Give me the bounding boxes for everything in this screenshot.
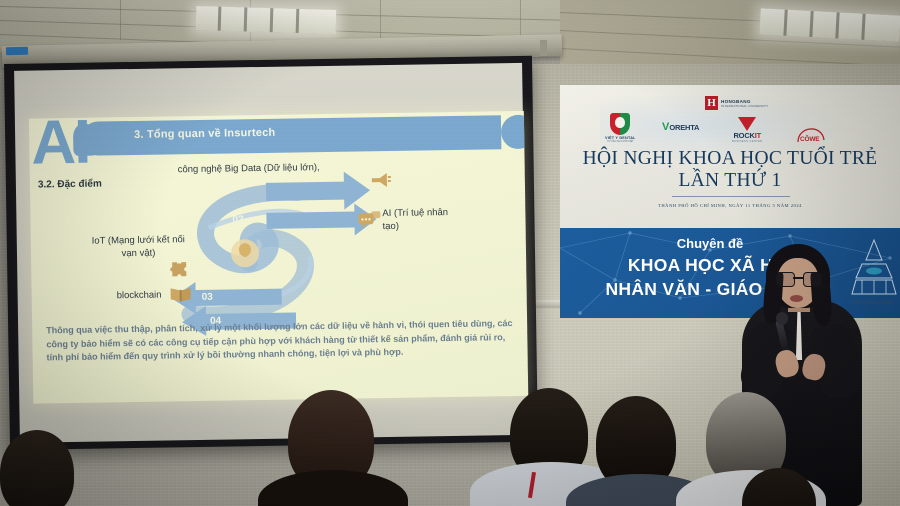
banner-heading-line1: HỘI NGHỊ KHOA HỌC TUỔI TRẺ	[560, 148, 900, 170]
slide-number-01: 01	[222, 183, 233, 194]
presentation-room-photo: AI 3. Tổng quan về Insurtech 3.2. Đặc đi…	[0, 0, 900, 506]
banner-divider	[672, 196, 790, 197]
rockit-mark	[738, 117, 756, 131]
spiral-svg	[148, 163, 401, 337]
housing-bracket	[540, 40, 547, 56]
slide-spiral-diagram	[148, 163, 401, 337]
viet-y-dental-tagline: TỰ HÀO NỤ CƯỜI VIỆT	[605, 140, 636, 143]
chat-bubble-icon	[358, 211, 380, 228]
ship-of-knowledge-icon	[848, 238, 900, 306]
ship-caption: Ship of Knowledge	[846, 300, 900, 306]
screen-surface: AI 3. Tổng quan về Insurtech 3.2. Đặc đi…	[14, 63, 528, 443]
rockit-name: ROCK	[733, 131, 754, 140]
slide-title: 3. Tổng quan về Insurtech	[134, 127, 275, 141]
presentation-slide: AI 3. Tổng quan về Insurtech 3.2. Đặc đi…	[29, 111, 528, 404]
book-icon	[170, 286, 192, 302]
rockit-logo: ROCKIT BUSINESS CENTER	[732, 117, 763, 143]
megaphone-icon	[370, 171, 392, 189]
slide-number-02: 02	[232, 214, 243, 225]
hongbang-logo: H HONGBANG INTERNATIONAL UNIVERSITY	[705, 96, 768, 110]
microphone-head	[776, 312, 788, 325]
cowe-logo: CÔWE	[796, 122, 826, 143]
puzzle-icon	[169, 259, 189, 279]
banner-date-line: THÀNH PHỐ HỒ CHÍ MINH, NGÀY 11 THÁNG 5 N…	[560, 203, 900, 208]
viet-y-dental-logo: VIỆT Y DENTAL TỰ HÀO NỤ CƯỜI VIỆT	[605, 113, 636, 143]
hongbang-mark: H	[705, 96, 718, 110]
speaker-glasses-icon	[776, 272, 820, 285]
housing-label-sticker	[6, 47, 28, 55]
orehta-mark: V	[662, 122, 669, 133]
slide-number-03: 03	[202, 292, 213, 303]
viet-y-dental-mark	[610, 113, 630, 135]
sponsor-logo-row: H HONGBANG INTERNATIONAL UNIVERSITY VIỆT…	[600, 96, 870, 144]
ceiling-light-left	[196, 6, 337, 34]
orehta-name: OREHTA	[669, 123, 699, 132]
audience-head-5	[0, 430, 74, 506]
projector-screen: AI 3. Tổng quan về Insurtech 3.2. Đặc đi…	[4, 56, 538, 450]
rockit-subtitle: BUSINESS CENTER	[732, 140, 763, 143]
banner-heading-line2: LẦN THỨ 1	[560, 170, 900, 192]
slide-paragraph: Thông qua việc thu thập, phân tích, xử l…	[46, 317, 515, 365]
speaker-mouth	[790, 295, 803, 302]
slide-section-label: 3.2. Đặc điểm	[38, 177, 102, 192]
hongbang-subtitle: INTERNATIONAL UNIVERSITY	[721, 104, 768, 108]
orehta-logo: V OREHTA	[662, 122, 699, 133]
rockit-accent: IT	[755, 131, 761, 140]
